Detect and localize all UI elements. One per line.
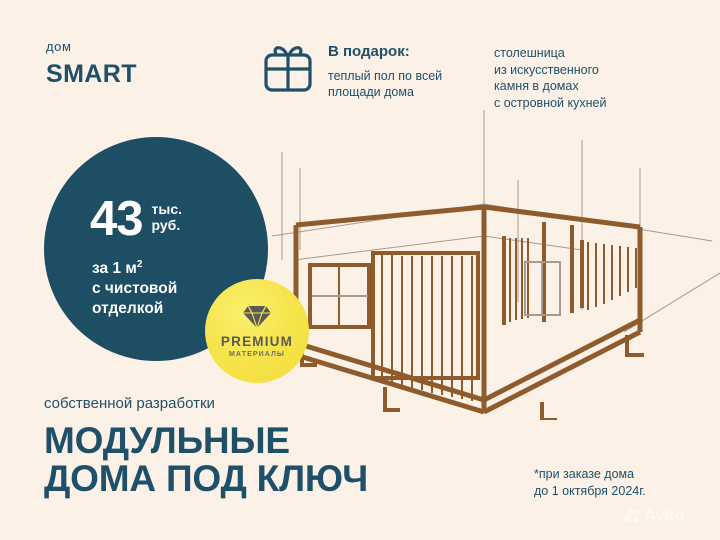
footnote-line-1: *при заказе дома [534, 466, 646, 483]
price-unit-thousand: тыс. [152, 202, 183, 218]
feature-note-line-4: с островной кухней [494, 95, 606, 112]
price-desc-line-1: за 1 м2 [92, 259, 177, 279]
avito-watermark-text: Avito [644, 507, 684, 524]
gift-title: В подарок: [328, 44, 442, 61]
price-value: 43 [90, 197, 143, 242]
gift-offer-block: В подарок: теплый пол по всей площади до… [262, 40, 442, 101]
gift-description: теплый пол по всей площади дома [328, 68, 442, 101]
headline-kicker: собственной разработки [44, 396, 368, 411]
advertisement-banner: дом SMART В подарок: теплый пол по всей … [0, 0, 720, 540]
price-desc-superscript: 2 [137, 259, 143, 270]
price-unit-currency: руб. [152, 218, 183, 234]
headline-block: собственной разработки МОДУЛЬНЫЕ ДОМА ПО… [44, 396, 368, 499]
modular-house-illustration [272, 110, 720, 420]
price-desc-line-3: отделкой [92, 299, 177, 319]
avito-logo-icon [624, 507, 641, 524]
feature-note-line-3: камня в домах [494, 78, 606, 95]
headline-main: МОДУЛЬНЫЕ ДОМА ПОД КЛЮЧ [44, 422, 368, 499]
premium-badge-title: PREMIUM [221, 335, 293, 349]
interior-door [525, 262, 560, 315]
feature-note-line-2: из искусственного [494, 62, 606, 79]
price-desc-per-sqm: за 1 м [92, 260, 137, 277]
premium-badge-subtitle: МАТЕРИАЛЫ [229, 351, 285, 358]
gift-description-line-2: площади дома [328, 84, 442, 101]
premium-badge: PREMIUM МАТЕРИАЛЫ [205, 279, 309, 383]
feature-note-line-1: столешница [494, 45, 606, 62]
price-units: тыс. руб. [152, 202, 183, 233]
feature-note: столешница из искусственного камня в дом… [494, 45, 606, 111]
footnote-line-2: до 1 октября 2024г. [534, 483, 646, 500]
footnote: *при заказе дома до 1 октября 2024г. [534, 466, 646, 500]
brand-prefix: дом [46, 40, 137, 53]
brand-name: SMART [46, 62, 137, 87]
gift-icon [262, 41, 314, 93]
avito-watermark: Avito [624, 507, 684, 524]
price-desc-line-2: с чистовой [92, 279, 177, 299]
window [310, 265, 369, 327]
gift-text-block: В подарок: теплый пол по всей площади до… [328, 40, 442, 101]
headline-line-2: ДОМА ПОД КЛЮЧ [44, 460, 368, 498]
diamond-icon [242, 304, 272, 330]
gift-description-line-1: теплый пол по всей [328, 68, 442, 85]
brand-block: дом SMART [46, 40, 137, 87]
price-description: за 1 м2 с чистовой отделкой [92, 259, 177, 319]
price-row: 43 тыс. руб. [90, 197, 182, 242]
headline-line-1: МОДУЛЬНЫЕ [44, 422, 368, 460]
